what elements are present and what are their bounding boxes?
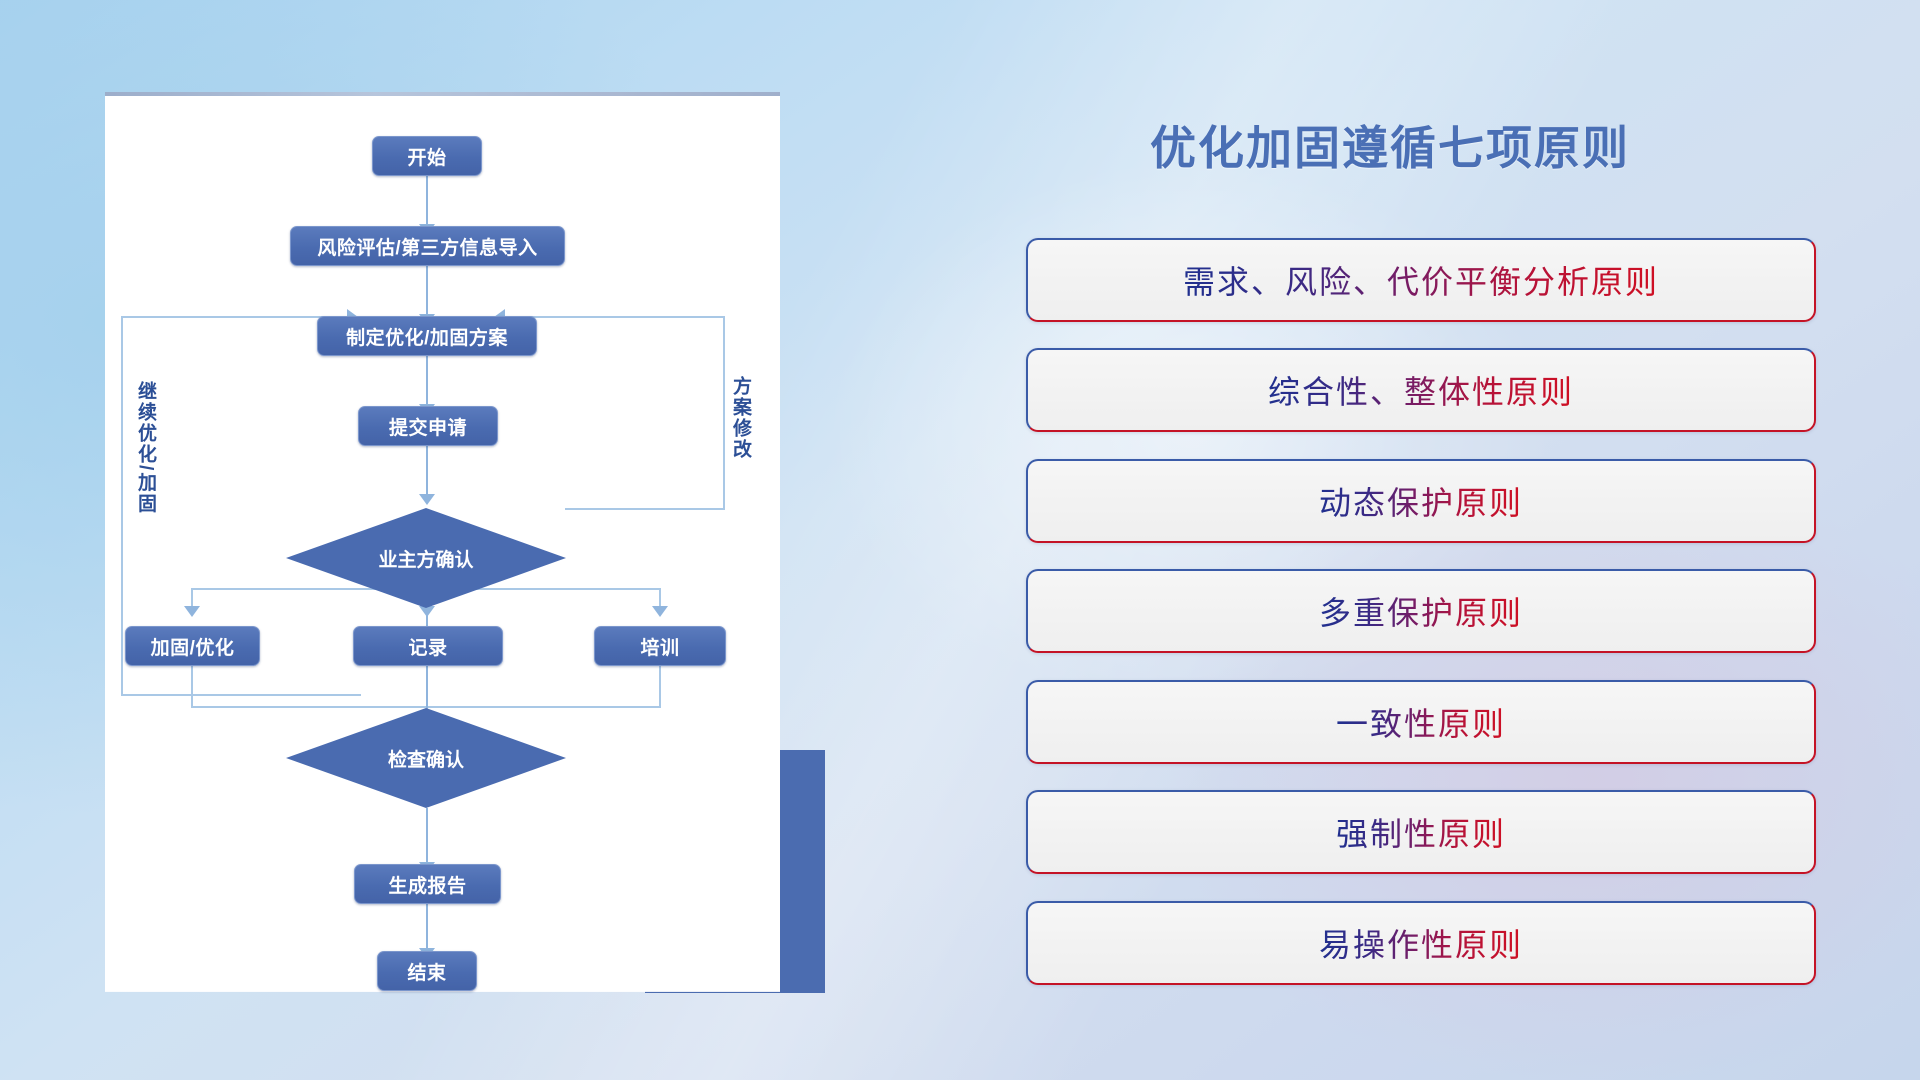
flow-node-end-label: 结束 <box>407 958 446 985</box>
flow-node-record[interactable]: 记录 <box>353 626 503 666</box>
flow-node-start-label: 开始 <box>407 143 446 170</box>
principle-card-4-label: 多重保护原则 <box>1319 588 1523 634</box>
connector-train-down <box>659 666 661 708</box>
principle-card-2-label: 综合性、整体性原则 <box>1268 367 1574 413</box>
principle-card-3-label: 动态保护原则 <box>1319 478 1523 524</box>
edge-label-left-loop: 继续优化/加固 <box>135 381 155 514</box>
connector-check-report <box>426 808 428 868</box>
flow-node-check-confirm-label: 检查确认 <box>388 745 464 772</box>
flow-node-report[interactable]: 生成报告 <box>354 864 501 904</box>
connector-left-loop-up <box>121 316 123 696</box>
principles-title: 优化加固遵循七项原则 <box>1150 112 1630 178</box>
flow-node-plan[interactable]: 制定优化/加固方案 <box>317 316 537 356</box>
flow-node-submit-label: 提交申请 <box>389 413 467 440</box>
arrowhead-submit-owner <box>419 494 435 505</box>
flow-node-reinforce-label: 加固/优化 <box>151 633 235 660</box>
flow-node-training[interactable]: 培训 <box>594 626 726 666</box>
flow-node-training-label: 培训 <box>640 633 679 660</box>
arrowhead-train <box>652 606 668 617</box>
principle-card-1-label: 需求、风险、代价平衡分析原则 <box>1183 257 1659 303</box>
principle-card-6-label: 强制性原则 <box>1336 809 1506 855</box>
connector-plan-submit <box>426 354 428 410</box>
connector-right-loop-back <box>505 316 725 318</box>
flow-node-plan-label: 制定优化/加固方案 <box>346 323 508 350</box>
flow-node-record-label: 记录 <box>408 633 447 660</box>
principle-card-7-label: 易操作性原则 <box>1319 920 1523 966</box>
principles-panel: 优化加固遵循七项原则 需求、风险、代价平衡分析原则 综合性、整体性原则 动态保护… <box>1000 0 1920 1080</box>
principle-card-4[interactable]: 多重保护原则 <box>1026 569 1816 653</box>
flow-node-owner-confirm[interactable]: 业主方确认 <box>286 508 566 608</box>
connector-owner-right <box>565 508 725 510</box>
flow-node-reinforce[interactable]: 加固/优化 <box>125 626 260 666</box>
principle-card-5[interactable]: 一致性原则 <box>1026 680 1816 764</box>
principle-card-2[interactable]: 综合性、整体性原则 <box>1026 348 1816 432</box>
connector-right-loop-up <box>723 316 725 510</box>
edge-label-right-loop: 方案修改 <box>730 376 750 460</box>
arrowhead-reinf <box>184 606 200 617</box>
connector-check-left <box>121 694 361 696</box>
principle-card-5-label: 一致性原则 <box>1336 699 1506 745</box>
flowchart-card: 继续优化/加固 方案修改 <box>105 96 780 991</box>
connector-risk-plan <box>426 264 428 320</box>
principle-card-3[interactable]: 动态保护原则 <box>1026 459 1816 543</box>
connector-report-end <box>426 902 428 954</box>
flow-node-risk-assessment[interactable]: 风险评估/第三方信息导入 <box>290 226 565 266</box>
flow-node-report-label: 生成报告 <box>388 871 466 898</box>
connector-submit-owner <box>426 444 428 500</box>
connector-reinf-down <box>191 666 193 708</box>
flow-node-check-confirm[interactable]: 检查确认 <box>286 708 566 808</box>
flow-node-submit[interactable]: 提交申请 <box>358 406 498 446</box>
flow-node-owner-confirm-label: 业主方确认 <box>378 545 473 572</box>
principle-card-7[interactable]: 易操作性原则 <box>1026 901 1816 985</box>
flow-node-risk-assessment-label: 风险评估/第三方信息导入 <box>317 233 537 260</box>
connector-start-risk <box>426 174 428 230</box>
flow-node-end[interactable]: 结束 <box>377 951 477 991</box>
flow-node-start[interactable]: 开始 <box>372 136 482 176</box>
principle-card-1[interactable]: 需求、风险、代价平衡分析原则 <box>1026 238 1816 322</box>
connector-left-loop-back <box>121 316 349 318</box>
principle-card-6[interactable]: 强制性原则 <box>1026 790 1816 874</box>
flowchart-canvas: 继续优化/加固 方案修改 <box>105 96 780 991</box>
